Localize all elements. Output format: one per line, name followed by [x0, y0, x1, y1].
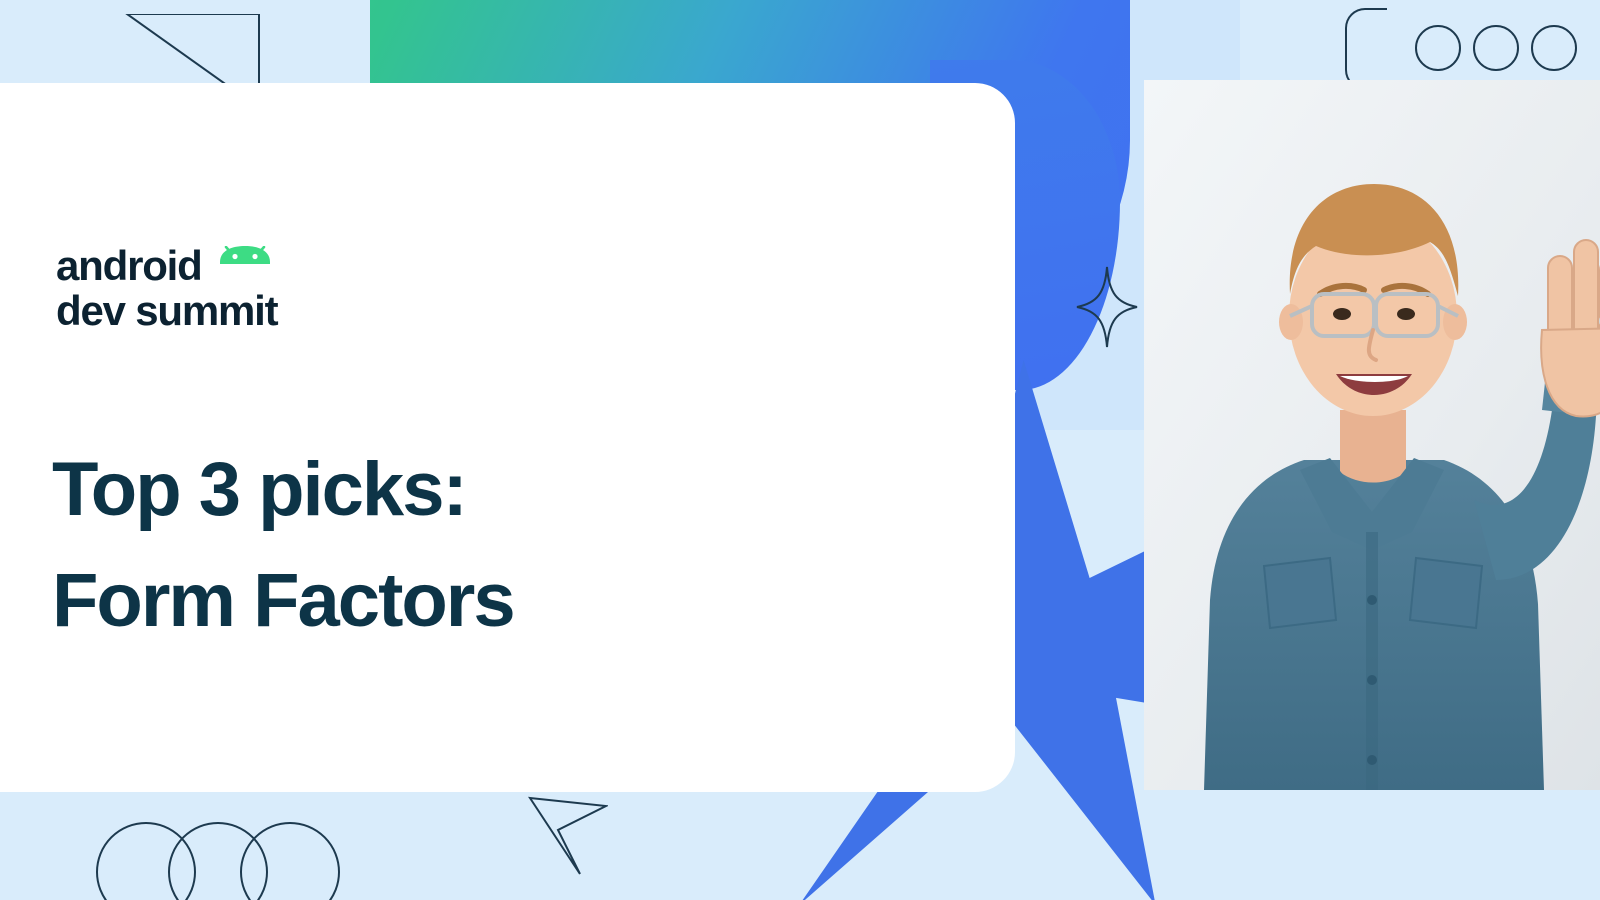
slide-canvas: android dev summit Top 3 picks: Form [0, 0, 1600, 900]
arrow-outline-icon [528, 796, 608, 876]
sparkle-icon [1075, 265, 1139, 349]
bracket-icon [1345, 8, 1387, 90]
circle-outline-icon [1415, 25, 1461, 71]
brand-line-1: android [56, 243, 202, 288]
circle-outline-icon [240, 822, 340, 900]
content-card: android dev summit Top 3 picks: Form [0, 83, 1015, 792]
circle-outline-icon [1531, 25, 1577, 71]
speaker-photo [1144, 80, 1600, 790]
android-dev-summit-logo: android dev summit [56, 243, 456, 334]
page-title: Top 3 picks: Form Factors [52, 435, 892, 657]
headline-line-1: Top 3 picks: [52, 435, 892, 546]
speaker-illustration [1144, 80, 1600, 790]
android-bugdroid-icon [216, 246, 274, 286]
headline-line-2: Form Factors [52, 546, 892, 657]
circle-outline-icon [1473, 25, 1519, 71]
brand-line-2: dev summit [56, 288, 456, 333]
